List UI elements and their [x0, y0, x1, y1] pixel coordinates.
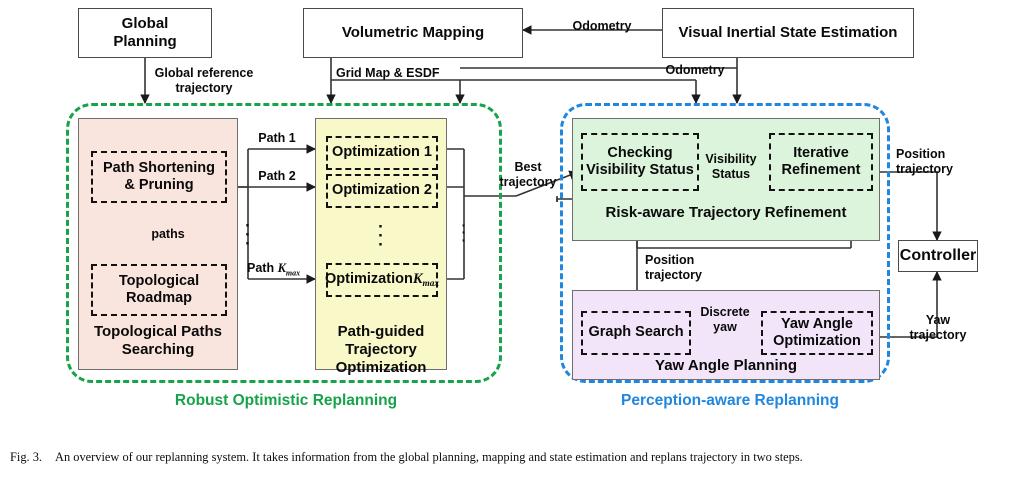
perception-group-label: Perception-aware Replanning — [570, 392, 890, 410]
topological-panel-title: Topological PathsSearching — [79, 323, 237, 359]
label-path-1: Path 1 — [248, 131, 306, 146]
label-global-reference-trajectory: Global referencetrajectory — [148, 66, 260, 97]
yaw-panel-title: Yaw Angle Planning — [573, 357, 879, 375]
sub-path-shortening-pruning[interactable]: Path Shortening& Pruning — [91, 151, 227, 203]
figure-caption: Fig. 3.An overview of our replanning sys… — [10, 448, 1022, 467]
path-kmax-prefix: Path — [247, 261, 278, 275]
sub-graph-search[interactable]: Graph Search — [581, 311, 691, 355]
visual-inertial-state-estimation-box[interactable]: Visual Inertial State Estimation — [662, 8, 914, 58]
sub-optimization-1[interactable]: Optimization 1 — [326, 136, 438, 170]
sub-checking-visibility-status[interactable]: CheckingVisibility Status — [581, 133, 699, 191]
label-odometry-top: Odometry — [562, 19, 642, 34]
label-grid-map-esdf: Grid Map & ESDF — [336, 66, 476, 81]
optimization-kmax-symbol: K — [413, 271, 423, 288]
merge-bus-vertical-dots: ··· — [453, 222, 475, 244]
label-best-trajectory: Besttrajectory — [490, 160, 566, 191]
label-discrete-yaw: Discreteyaw — [691, 305, 759, 336]
path-kmax-symbol: K — [278, 261, 286, 275]
robust-group-label: Robust Optimistic Replanning — [126, 392, 446, 410]
system-architecture-diagram: GlobalPlanning Volumetric Mapping Visual… — [0, 0, 1030, 430]
label-visibility-status: VisibilityStatus — [697, 152, 765, 183]
label-position-trajectory-right: Positiontrajectory — [896, 147, 992, 178]
label-odometry-down: Odometry — [655, 63, 735, 78]
label-path-kmax: Path Kmax — [247, 261, 319, 278]
sub-optimization-2[interactable]: Optimization 2 — [326, 174, 438, 208]
refinement-panel-title: Risk-aware Trajectory Refinement — [573, 204, 879, 222]
label-position-trajectory-mid: Positiontrajectory — [645, 253, 741, 284]
label-paths: paths — [140, 227, 196, 242]
controller-box[interactable]: Controller — [898, 240, 978, 272]
sub-yaw-angle-optimization[interactable]: Yaw AngleOptimization — [761, 311, 873, 355]
sub-iterative-refinement[interactable]: IterativeRefinement — [769, 133, 873, 191]
optimization-vertical-dots: ··· — [316, 223, 446, 249]
global-planning-box[interactable]: GlobalPlanning — [78, 8, 212, 58]
figure-caption-lead: Fig. 3. — [10, 450, 42, 464]
optimization-panel-title: Path-guided TrajectoryOptimization — [316, 323, 446, 377]
optimization-kmax-sub: max — [423, 279, 439, 289]
path-guided-trajectory-optimization-panel[interactable]: Optimization 1 Optimization 2 Optimizati… — [315, 118, 447, 370]
label-path-2: Path 2 — [248, 169, 306, 184]
path-kmax-sub: max — [286, 269, 300, 278]
sub-optimization-kmax[interactable]: Optimization Kmax — [326, 263, 438, 297]
path-bus-vertical-dots: ··· — [237, 222, 259, 248]
volumetric-mapping-box[interactable]: Volumetric Mapping — [303, 8, 523, 58]
topological-paths-searching-panel[interactable]: Path Shortening& Pruning TopologicalRoad… — [78, 118, 238, 370]
sub-topological-roadmap[interactable]: TopologicalRoadmap — [91, 264, 227, 316]
label-yaw-trajectory: Yawtrajectory — [890, 313, 986, 344]
optimization-kmax-prefix: Optimization — [325, 271, 413, 288]
figure-caption-text: An overview of our replanning system. It… — [55, 450, 803, 464]
